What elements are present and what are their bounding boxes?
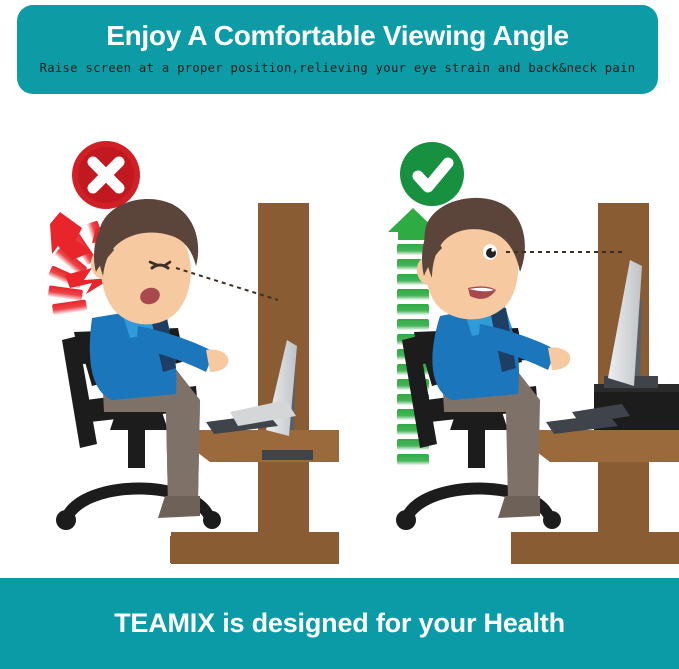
cross-mark-icon — [72, 141, 140, 209]
footer-banner: TEAMIX is designed for your Health — [0, 578, 679, 669]
page-title: Enjoy A Comfortable Viewing Angle — [106, 19, 569, 53]
header-banner: Enjoy A Comfortable Viewing Angle Raise … — [17, 5, 658, 94]
illustration-area — [0, 100, 679, 578]
page-subtitle: Raise screen at a proper position,reliev… — [40, 59, 636, 77]
footer-tagline: TEAMIX is designed for your Health — [114, 608, 565, 639]
correct-posture-scene — [340, 100, 679, 578]
check-mark-icon — [400, 142, 464, 206]
person-head — [417, 198, 525, 319]
person-head — [91, 199, 198, 324]
incorrect-posture-scene — [0, 100, 339, 578]
